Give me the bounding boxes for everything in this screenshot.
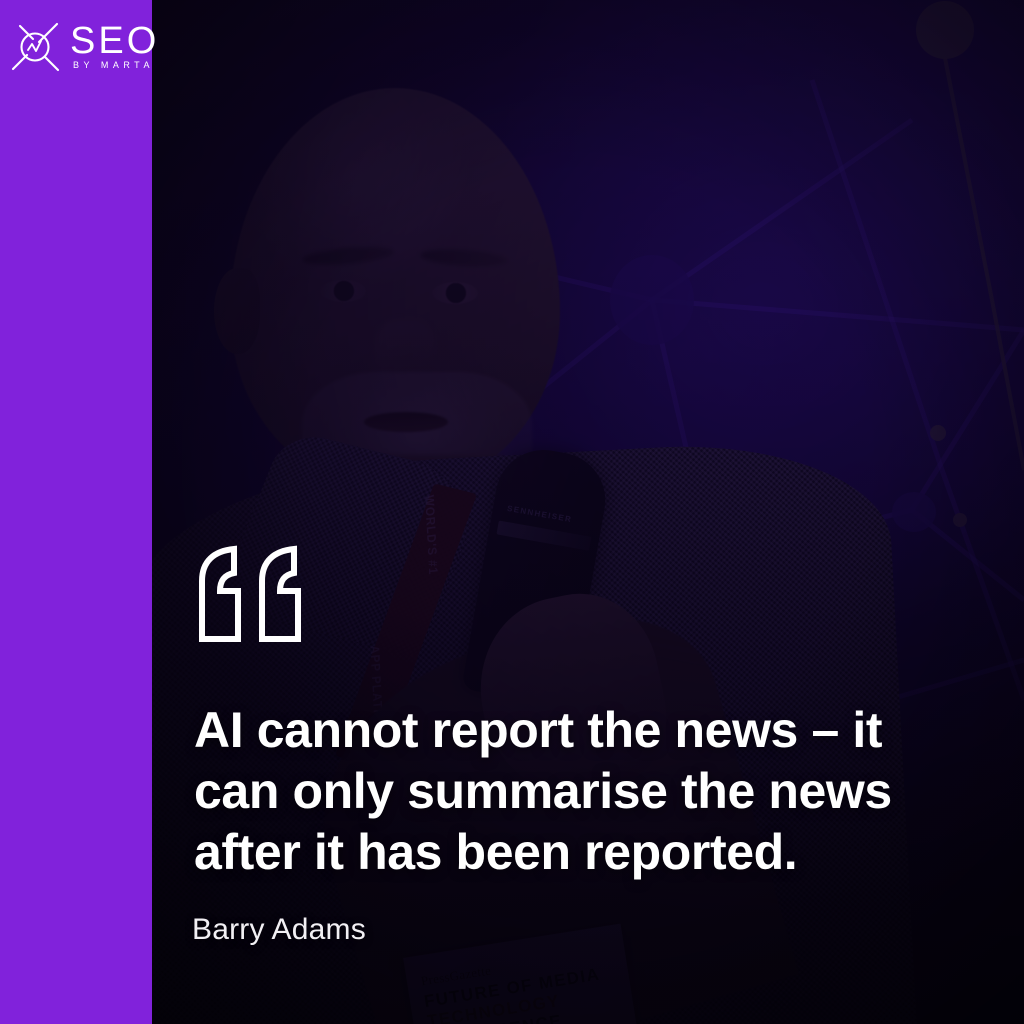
logo-wordmark: SEO [70, 24, 159, 59]
brand-sidebar [0, 0, 152, 1024]
brand-logo[interactable]: SEO BY MARTA [10, 18, 160, 76]
quote-attribution: Barry Adams [192, 913, 366, 947]
double-quote-outline-icon [196, 545, 304, 643]
quote-text: AI cannot report the news – it can only … [194, 700, 924, 883]
quote-card: WORLD'S #1 APP PLATFORM SENNHEISER Press… [0, 0, 1024, 1024]
magnifier-analytics-icon [10, 21, 68, 73]
logo-tagline: BY MARTA [73, 60, 159, 70]
